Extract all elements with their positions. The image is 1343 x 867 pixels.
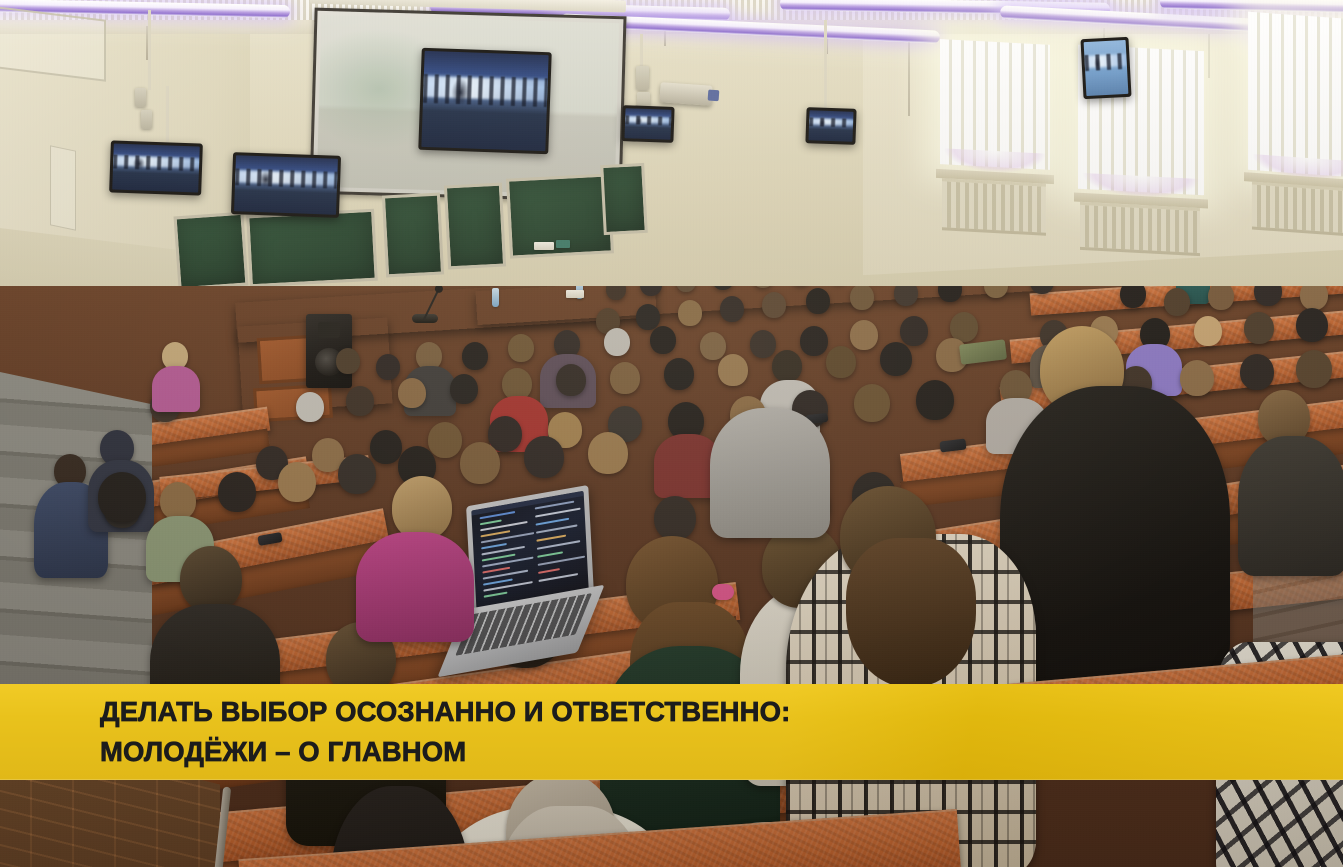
audience-head: [338, 454, 376, 494]
wall-monitor: [1080, 37, 1131, 99]
wall-conduit: [824, 20, 827, 116]
audience-head: [1180, 360, 1214, 396]
audience-head: [398, 378, 426, 408]
chalkboard-panel: [600, 163, 648, 235]
wall-speaker: [141, 110, 152, 129]
audience-head: [636, 304, 660, 330]
foreground-head: [180, 546, 242, 612]
audience-head: [218, 472, 256, 512]
audience-head: [376, 354, 400, 380]
hair-tie: [712, 584, 734, 600]
audience-head: [700, 332, 726, 360]
wall-monitor: [231, 152, 341, 218]
audience-head: [1296, 308, 1328, 342]
audience-head: [1254, 286, 1282, 306]
audience-head: [556, 364, 586, 396]
paper-sheet: [566, 290, 584, 298]
audience-head: [720, 296, 744, 322]
chalk-tray-item: [534, 242, 554, 250]
audience-head: [462, 342, 488, 370]
code-line: [484, 592, 508, 598]
audience-torso: [1238, 436, 1343, 576]
radiator: [1252, 182, 1343, 237]
audience-head: [370, 430, 402, 464]
broadcast-frame: ДЕЛАТЬ ВЫБОР ОСОЗНАННО И ОТВЕТСТВЕННО: М…: [0, 0, 1343, 867]
wall-conduit: [640, 34, 643, 70]
audience-head: [664, 358, 694, 390]
main-wall-monitor: [418, 48, 551, 154]
audience-head: [654, 496, 696, 540]
chalkboard-panel: [246, 209, 378, 288]
wall-monitor: [109, 140, 203, 195]
audience-head: [938, 286, 962, 302]
code-line: [537, 540, 580, 550]
audience-head: [160, 482, 196, 520]
audience-head: [1240, 354, 1274, 390]
window: [1248, 12, 1343, 178]
audience-head: [1244, 312, 1274, 344]
monitor-screen: [808, 110, 853, 142]
code-line: [538, 556, 585, 566]
audience-head: [762, 292, 786, 318]
audience-head: [850, 286, 874, 310]
code-line: [539, 573, 578, 582]
wall-speaker: [636, 66, 649, 90]
audience-head: [750, 330, 776, 358]
audience-head: [508, 334, 534, 362]
wall-monitor: [621, 105, 674, 143]
tablet-on-desk: [959, 339, 1007, 364]
audience-head: [296, 392, 324, 422]
audience-head: [1296, 350, 1332, 388]
audience-head: [610, 362, 640, 394]
audience-head: [604, 328, 630, 356]
audience-head: [278, 462, 316, 502]
audience-head: [650, 326, 676, 354]
audience-head: [894, 286, 918, 306]
audience-head: [524, 436, 564, 478]
audience-head: [460, 442, 500, 484]
chalkboard-panel: [174, 212, 249, 291]
code-line: [481, 543, 507, 550]
foreground-head: [98, 472, 146, 522]
lower-third-text: ДЕЛАТЬ ВЫБОР ОСОЗНАННО И ОТВЕТСТВЕННО: М…: [100, 692, 790, 772]
audience-head: [678, 300, 702, 326]
radiator: [1080, 202, 1200, 256]
lower-third-line-2: МОЛОДЁЖИ – О ГЛАВНОМ: [100, 732, 790, 772]
wall-conduit: [166, 86, 169, 150]
hair-mass: [846, 538, 976, 688]
audience-head: [1194, 316, 1222, 346]
audience-head: [718, 354, 748, 386]
audience-head: [450, 374, 478, 404]
code-line: [480, 519, 502, 525]
audience-head: [854, 384, 890, 422]
code-line: [536, 535, 566, 542]
audience-head: [772, 350, 802, 382]
audience-torso: [152, 366, 200, 412]
wall-conduit: [148, 10, 151, 90]
whiteboard-outline: [50, 145, 76, 231]
window: [940, 39, 1050, 170]
ceiling-projector: [659, 82, 712, 106]
audience-head: [1300, 286, 1328, 310]
audience-head: [984, 286, 1008, 298]
audience-head: [336, 348, 360, 374]
audience-head: [880, 342, 912, 376]
code-line: [536, 524, 577, 533]
lamp-rod: [1208, 34, 1210, 78]
audience-head: [800, 326, 828, 356]
audience-head: [346, 386, 374, 416]
chalk-tray-eraser: [556, 240, 570, 248]
audience-head: [1208, 286, 1234, 310]
code-line: [537, 551, 563, 558]
audience-head: [850, 320, 878, 350]
monitor-screen: [421, 51, 548, 151]
monitor-screen: [112, 144, 200, 193]
audience-head: [826, 346, 856, 378]
wall-monitor: [805, 107, 856, 145]
code-line: [536, 518, 570, 526]
foreground-head: [392, 476, 452, 540]
lamp-rod: [908, 30, 910, 116]
audience-head: [428, 422, 462, 458]
wall-speaker: [135, 88, 146, 107]
audience-head: [900, 316, 928, 346]
code-line: [538, 568, 560, 574]
foreground-torso: [710, 408, 830, 538]
code-line: [535, 508, 580, 518]
audience-head: [1164, 288, 1190, 316]
chalkboard-panel: [444, 183, 506, 270]
monitor-screen: [1084, 40, 1129, 96]
foreground-torso: [356, 532, 474, 642]
lower-third-line-1: ДЕЛАТЬ ВЫБОР ОСОЗНАННО И ОТВЕТСТВЕННО:: [100, 692, 790, 732]
radiator: [942, 178, 1046, 235]
chalkboard-panel: [382, 193, 444, 278]
monitor-screen: [624, 108, 671, 140]
audience-head: [588, 432, 628, 474]
water-bottle: [492, 288, 499, 307]
audience-head: [806, 288, 830, 314]
audience-head: [916, 380, 954, 420]
lower-third-banner: ДЕЛАТЬ ВЫБОР ОСОЗНАННО И ОТВЕТСТВЕННО: М…: [0, 684, 1343, 780]
monitor-screen: [234, 155, 338, 215]
window-blinds: [1248, 12, 1343, 178]
